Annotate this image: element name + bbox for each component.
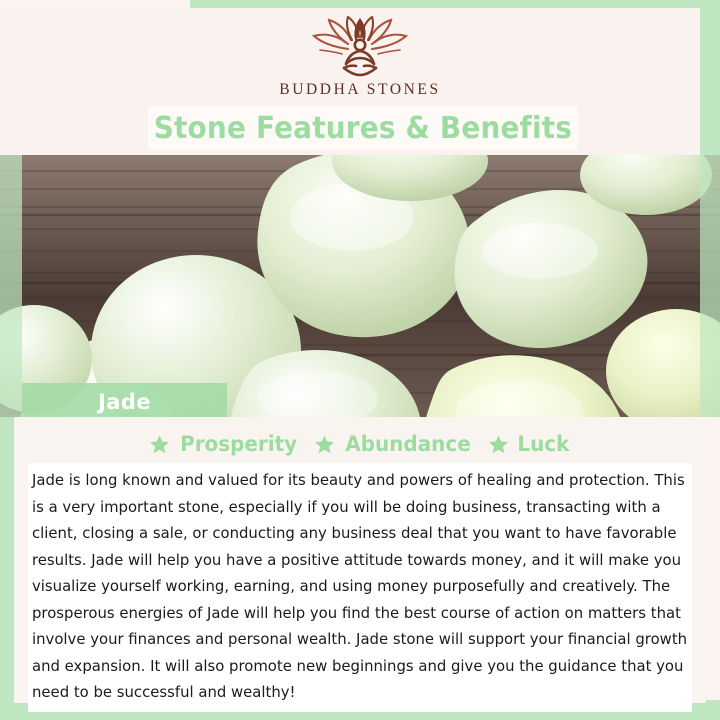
star-icon xyxy=(149,434,170,455)
keyword-list: Prosperity Abundance Luck xyxy=(28,429,692,459)
page-title: Stone Features & Benefits xyxy=(154,111,572,146)
keyword-item-luck: Luck xyxy=(488,432,571,456)
stone-photo xyxy=(0,155,720,417)
title-banner: Stone Features & Benefits xyxy=(148,106,578,150)
lotus-meditation-icon xyxy=(308,16,412,78)
keyword-label: Luck xyxy=(518,432,570,456)
star-icon xyxy=(488,434,509,455)
stone-photo-illustration xyxy=(0,155,720,417)
content-panel: Prosperity Abundance Luck Jade is long k… xyxy=(14,417,706,703)
brand-name: BUDDHA STONES xyxy=(279,81,440,99)
photo-edge-green-left xyxy=(0,155,22,417)
keyword-item-abundance: Abundance xyxy=(314,432,474,456)
brand-logo: BUDDHA STONES xyxy=(0,16,720,108)
description-panel: Jade is long known and valued for its be… xyxy=(28,463,692,712)
star-icon xyxy=(314,434,335,455)
photo-edge-green-right xyxy=(700,155,720,417)
infographic-page: BUDDHA STONES Stone Features & Benefits xyxy=(0,0,720,720)
stone-name-label: Jade xyxy=(98,390,151,414)
keyword-item-prosperity: Prosperity xyxy=(149,432,300,456)
keyword-label: Prosperity xyxy=(180,432,297,456)
description-text: Jade is long known and valued for its be… xyxy=(32,467,688,706)
keyword-label: Abundance xyxy=(346,432,471,456)
stone-name-band: Jade xyxy=(22,383,227,421)
